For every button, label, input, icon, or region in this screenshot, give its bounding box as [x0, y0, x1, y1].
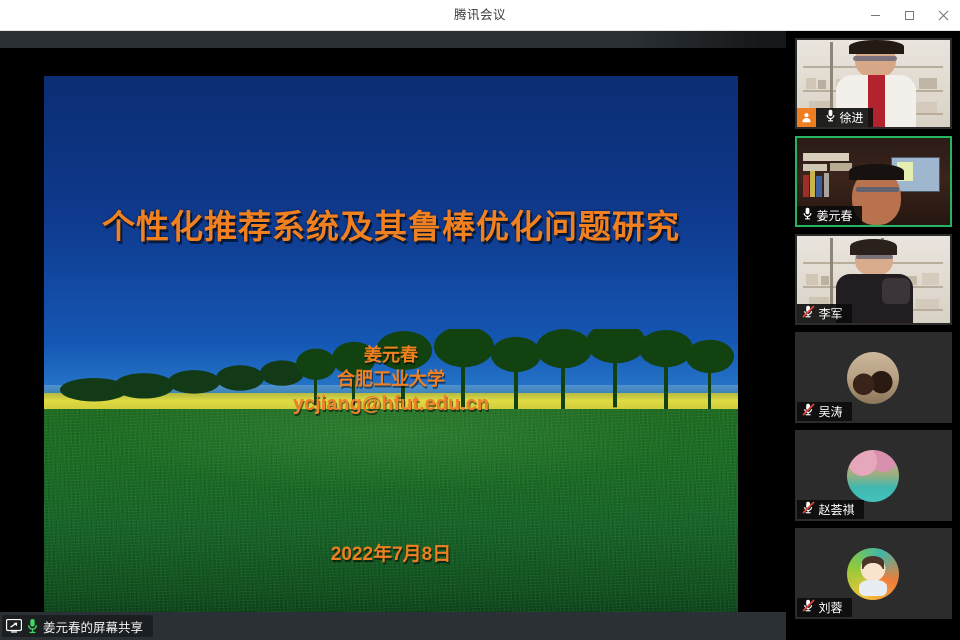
- participant-tile[interactable]: 李军: [795, 234, 952, 325]
- slide-date: 2022年7月8日: [44, 539, 738, 566]
- participant-name: 姜元春: [817, 207, 855, 224]
- meeting-window: 腾讯会议: [0, 0, 960, 640]
- participant-tile[interactable]: 刘蓉: [795, 528, 952, 619]
- share-toolbar-strip: [0, 31, 786, 48]
- participant-sidebar[interactable]: 徐进: [786, 31, 960, 640]
- minimize-icon[interactable]: [858, 0, 892, 31]
- slide-title: 个性化推荐系统及其鲁棒优化问题研究: [44, 200, 738, 248]
- title-bar: 腾讯会议: [0, 0, 960, 31]
- participant-tile[interactable]: 赵荟祺: [795, 430, 952, 521]
- microphone-muted-icon: [802, 599, 815, 617]
- toolbar-fade: [626, 31, 786, 48]
- slide-organization: 合肥工业大学: [44, 367, 738, 391]
- share-status-bar: 姜元春的屏幕共享: [0, 612, 786, 640]
- participant-label: 刘蓉: [797, 598, 852, 617]
- slide-email: ycjiang@hfut.edu.cn: [44, 391, 738, 418]
- microphone-icon: [825, 109, 836, 127]
- participant-name: 李军: [819, 305, 845, 322]
- avatar: [847, 450, 899, 502]
- participant-tile[interactable]: 姜元春: [795, 136, 952, 227]
- slide-grass-field: [44, 409, 738, 627]
- host-person-icon: [797, 108, 816, 127]
- maximize-icon[interactable]: [892, 0, 926, 31]
- microphone-icon: [26, 618, 39, 634]
- slide-author-name: 姜元春: [44, 343, 738, 367]
- share-status-label: 姜元春的屏幕共享: [43, 617, 143, 636]
- participant-name: 刘蓉: [819, 599, 845, 616]
- close-icon[interactable]: [926, 0, 960, 31]
- microphone-muted-icon: [802, 501, 815, 519]
- participant-label: 李军: [797, 304, 852, 323]
- slide-letterbox: 个性化推荐系统及其鲁棒优化问题研究 姜元春 合肥工业大学 ycjiang@hfu…: [0, 48, 786, 612]
- participant-label: 徐进: [797, 108, 873, 127]
- participant-tile[interactable]: 吴涛: [795, 332, 952, 423]
- presentation-slide: 个性化推荐系统及其鲁棒优化问题研究 姜元春 合肥工业大学 ycjiang@hfu…: [44, 76, 738, 627]
- window-title: 腾讯会议: [0, 0, 960, 31]
- shared-screen-area[interactable]: 个性化推荐系统及其鲁棒优化问题研究 姜元春 合肥工业大学 ycjiang@hfu…: [0, 31, 786, 640]
- participant-tile[interactable]: 徐进: [795, 38, 952, 129]
- participant-name: 徐进: [840, 109, 866, 126]
- participant-label: 姜元春: [797, 206, 862, 225]
- microphone-icon: [802, 207, 813, 225]
- participant-label: 赵荟祺: [797, 500, 864, 519]
- participant-label: 吴涛: [797, 402, 852, 421]
- participant-name: 吴涛: [819, 403, 845, 420]
- share-status-pill[interactable]: 姜元春的屏幕共享: [2, 615, 153, 637]
- avatar: [847, 548, 899, 600]
- screen-share-icon: [6, 619, 22, 633]
- microphone-muted-icon: [802, 305, 815, 323]
- window-controls: [858, 0, 960, 31]
- participant-name: 赵荟祺: [819, 501, 857, 518]
- slide-author-block: 姜元春 合肥工业大学 ycjiang@hfut.edu.cn: [44, 343, 738, 418]
- avatar: [847, 352, 899, 404]
- microphone-muted-icon: [802, 403, 815, 421]
